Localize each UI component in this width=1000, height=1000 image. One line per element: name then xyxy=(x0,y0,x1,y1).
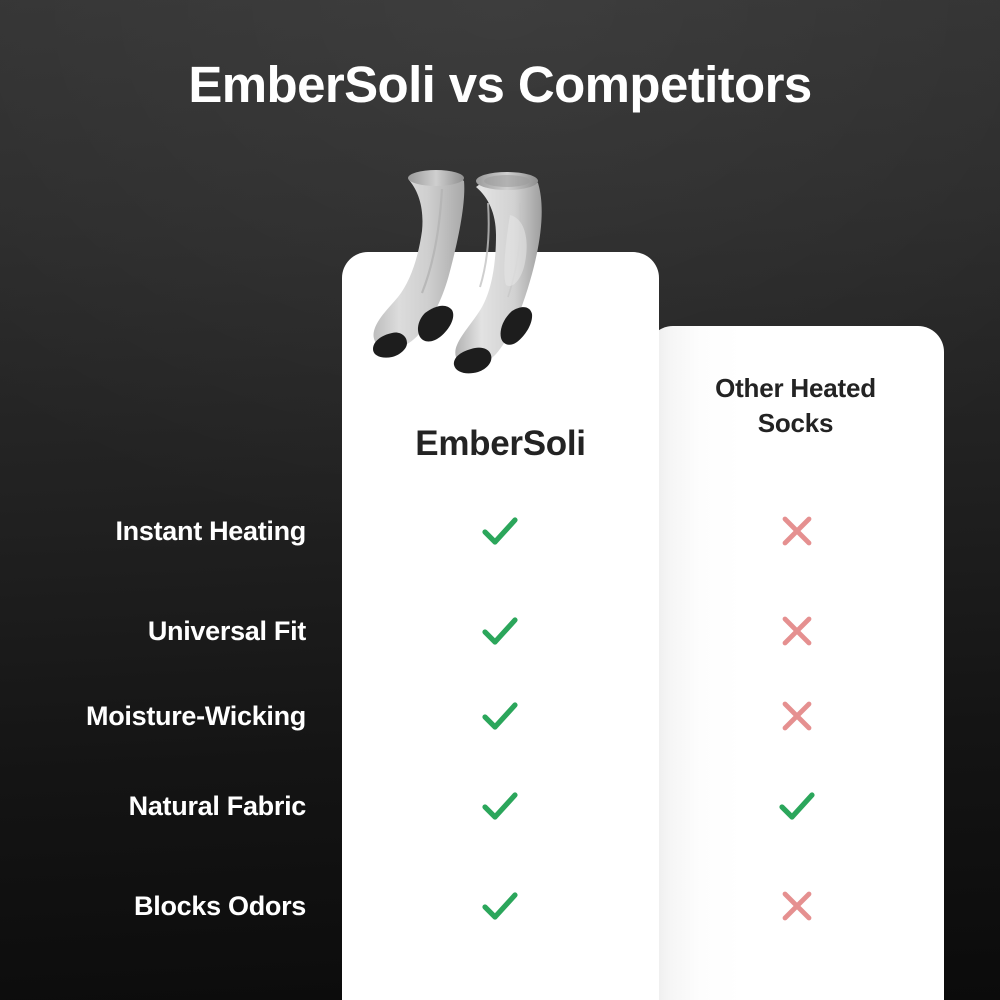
cross-icon xyxy=(767,876,827,936)
check-icon xyxy=(470,686,530,746)
cross-icon xyxy=(767,601,827,661)
comparison-infographic: EmberSoli vs Competitors xyxy=(0,0,1000,1000)
check-icon xyxy=(767,776,827,836)
check-icon xyxy=(470,601,530,661)
feature-label: Moisture-Wicking xyxy=(0,686,306,746)
feature-label: Natural Fabric xyxy=(0,776,306,836)
check-icon xyxy=(470,776,530,836)
feature-label: Instant Heating xyxy=(0,501,306,561)
feature-row: Natural Fabric xyxy=(0,776,1000,836)
feature-label: Universal Fit xyxy=(0,601,306,661)
feature-row: Moisture-Wicking xyxy=(0,686,1000,746)
feature-row: Universal Fit xyxy=(0,601,1000,661)
cross-icon xyxy=(767,686,827,746)
feature-row: Instant Heating xyxy=(0,501,1000,561)
check-icon xyxy=(470,501,530,561)
check-icon xyxy=(470,876,530,936)
cross-icon xyxy=(767,501,827,561)
feature-comparison-rows: Instant Heating Universal Fit Moisture-W… xyxy=(0,0,1000,1000)
feature-label: Blocks Odors xyxy=(0,876,306,936)
feature-row: Blocks Odors xyxy=(0,876,1000,936)
